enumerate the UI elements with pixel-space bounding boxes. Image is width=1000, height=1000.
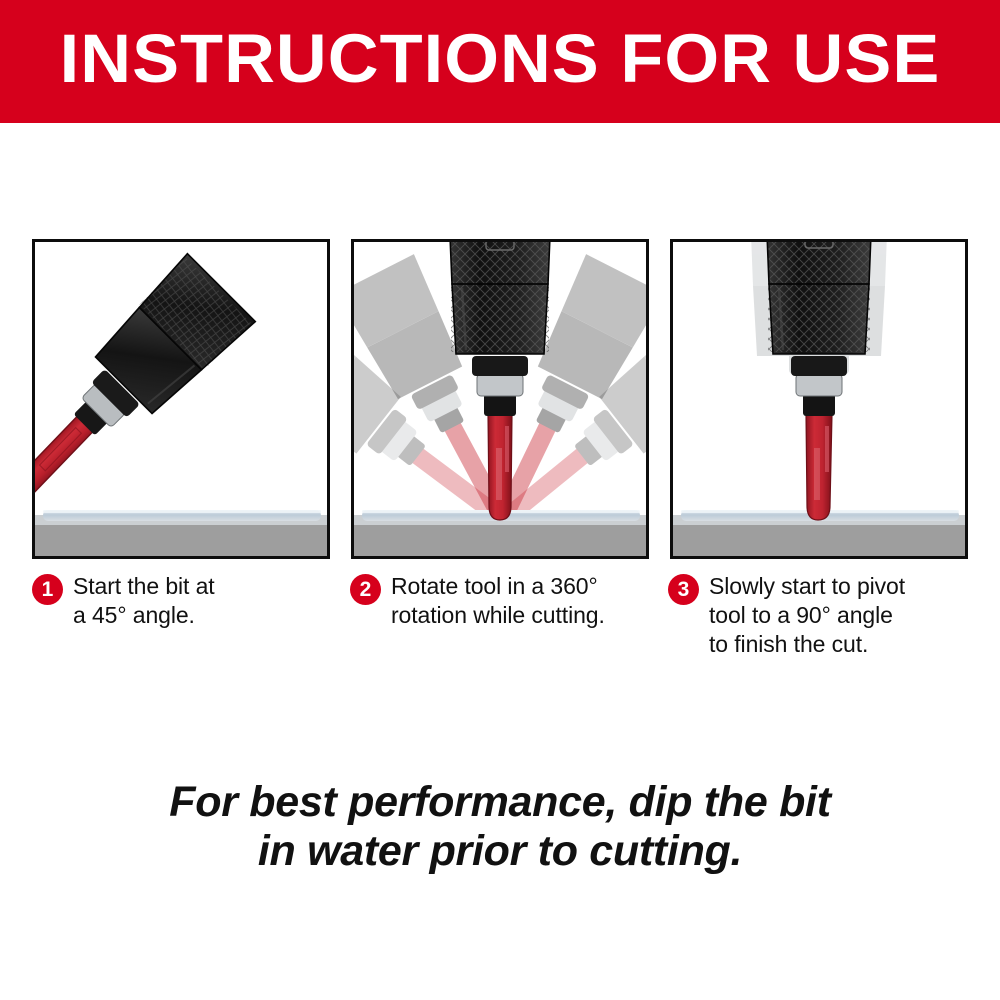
tagline: For best performance, dip the bit in wat… [0, 778, 1000, 876]
header-banner: INSTRUCTIONS FOR USE [0, 0, 1000, 123]
step-panel-1 [32, 239, 330, 559]
step-number-badge-2: 2 [350, 574, 381, 605]
step-captions: 1 Start the bit at a 45° angle. 2 Rotate… [32, 572, 968, 659]
step-caption-3: 3 Slowly start to pivot tool to a 90° an… [668, 572, 968, 659]
illustration-step-3 [673, 242, 965, 556]
step-panel-2 [351, 239, 649, 559]
step-caption-text-2: Rotate tool in a 360° rotation while cut… [391, 572, 605, 630]
step-caption-text-3: Slowly start to pivot tool to a 90° angl… [709, 572, 905, 659]
illustration-panels [32, 239, 968, 559]
step-panel-3 [670, 239, 968, 559]
step-caption-1: 1 Start the bit at a 45° angle. [32, 572, 332, 659]
step-caption-text-1: Start the bit at a 45° angle. [73, 572, 215, 630]
page-title: INSTRUCTIONS FOR USE [0, 21, 1000, 97]
step-caption-2: 2 Rotate tool in a 360° rotation while c… [350, 572, 650, 659]
step-number-badge-3: 3 [668, 574, 699, 605]
step-number-badge-1: 1 [32, 574, 63, 605]
illustration-step-1 [35, 242, 327, 556]
illustration-step-2 [354, 242, 646, 556]
